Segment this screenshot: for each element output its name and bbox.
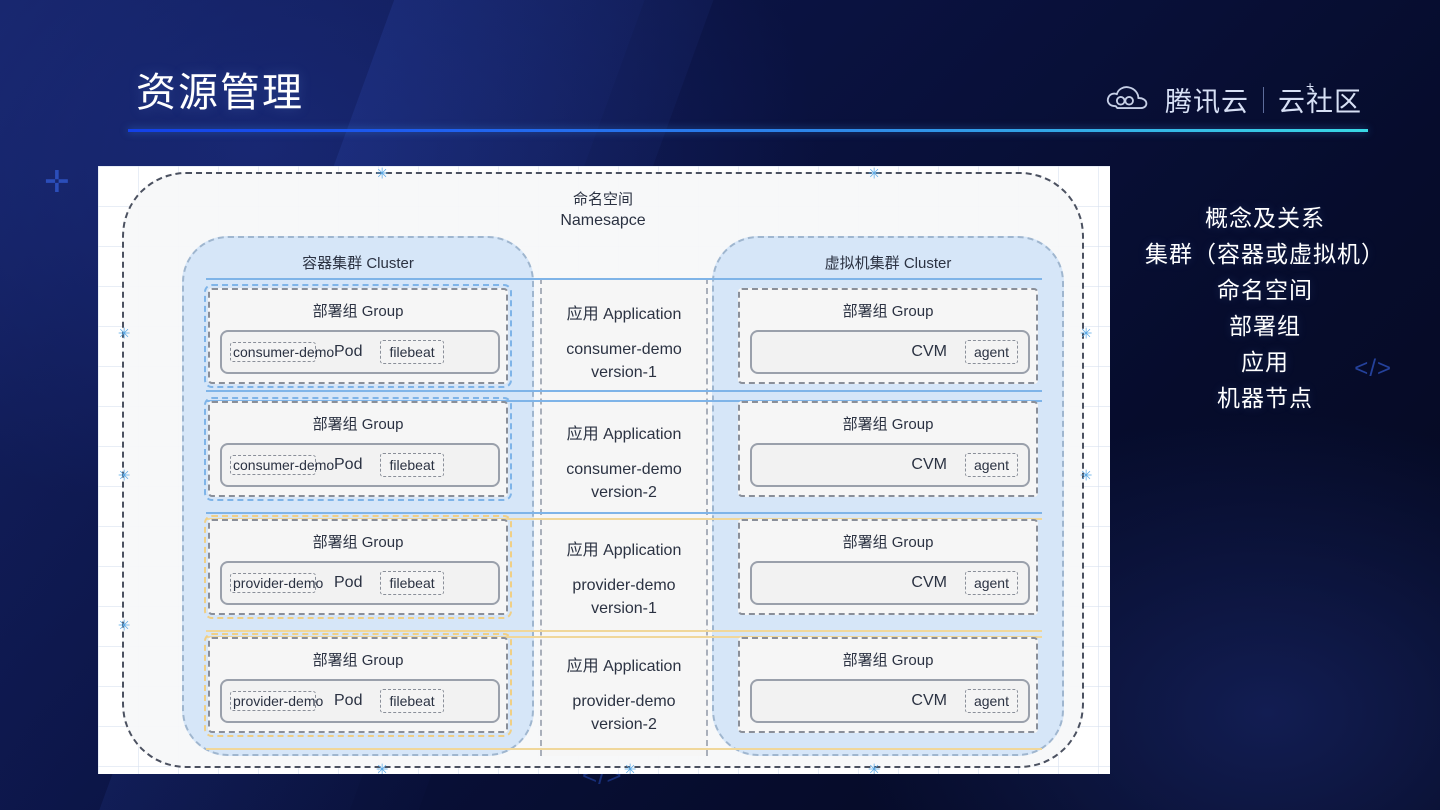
application-cell-2[interactable]: 应用 Application consumer-demo version-2 bbox=[524, 420, 724, 504]
application-cell-1[interactable]: 应用 Application consumer-demo version-1 bbox=[524, 300, 724, 384]
brand-lockup: 腾讯云 云社区 + bbox=[1105, 80, 1362, 119]
brand-divider bbox=[1263, 87, 1264, 113]
namespace-title-cn: 命名空间 bbox=[124, 190, 1082, 210]
cluster-vm-label: 虚拟机集群 Cluster bbox=[714, 252, 1062, 273]
pod-label-3: Pod bbox=[334, 574, 362, 592]
legend-line-cluster: 集群（容器或虚拟机） bbox=[1120, 236, 1410, 272]
brand-subname-text: 云社区 bbox=[1278, 87, 1362, 117]
application-version-4: version-2 bbox=[524, 713, 724, 736]
cvm-node-1[interactable]: CVM agent bbox=[750, 330, 1030, 374]
slide-root: 资源管理 腾讯云 云社区 + ✛ </> </> 命名空间 Namesapce … bbox=[0, 0, 1440, 810]
namespace-anchor-right-upper: ✳ bbox=[1080, 327, 1093, 342]
deployment-group-left-2-title: 部署组 Group bbox=[210, 413, 506, 434]
application-kind-4: 应用 Application bbox=[524, 652, 724, 676]
deployment-group-left-1-title: 部署组 Group bbox=[210, 300, 506, 321]
application-version-3: version-1 bbox=[524, 597, 724, 620]
plus-decoration-icon: ✛ bbox=[44, 170, 70, 196]
deployment-group-right-3-title: 部署组 Group bbox=[740, 531, 1036, 552]
namespace-anchor-top-left: ✳ bbox=[376, 167, 389, 182]
application-kind-3: 应用 Application bbox=[524, 536, 724, 560]
cvm-node-4[interactable]: CVM agent bbox=[750, 679, 1030, 723]
cvm-node-2[interactable]: CVM agent bbox=[750, 443, 1030, 487]
pod-label-1: Pod bbox=[334, 343, 362, 361]
brand-subname: 云社区 + bbox=[1278, 80, 1362, 119]
relation-line-row-1-top bbox=[206, 278, 1042, 280]
pod-label-4: Pod bbox=[334, 692, 362, 710]
pod-node-4[interactable]: provider-demo Pod filebeat bbox=[220, 679, 500, 723]
cvm-agent-chip-4: agent bbox=[965, 689, 1018, 714]
pod-node-1[interactable]: consumer-demo Pod filebeat bbox=[220, 330, 500, 374]
deployment-group-left-4[interactable]: 部署组 Group provider-demo Pod filebeat bbox=[208, 637, 508, 733]
deployment-group-left-2[interactable]: 部署组 Group consumer-demo Pod filebeat bbox=[208, 401, 508, 497]
namespace-container: 命名空间 Namesapce ✳ ✳ ✳ ✳ ✳ ✳ ✳ ✳ ✳ ✳ 容器集群 … bbox=[122, 172, 1084, 768]
deployment-group-right-3[interactable]: 部署组 Group CVM agent bbox=[738, 519, 1038, 615]
cvm-label-4: CVM bbox=[911, 692, 947, 710]
relation-line-row-4-bottom bbox=[206, 748, 1042, 750]
namespace-anchor-left-upper: ✳ bbox=[118, 327, 131, 342]
deployment-group-right-2[interactable]: 部署组 Group CVM agent bbox=[738, 401, 1038, 497]
application-cell-3[interactable]: 应用 Application provider-demo version-1 bbox=[524, 536, 724, 620]
namespace-anchor-top-right: ✳ bbox=[868, 167, 881, 182]
deployment-group-right-1-title: 部署组 Group bbox=[740, 300, 1036, 321]
cluster-container-label: 容器集群 Cluster bbox=[184, 252, 532, 273]
diagram-panel: 命名空间 Namesapce ✳ ✳ ✳ ✳ ✳ ✳ ✳ ✳ ✳ ✳ 容器集群 … bbox=[98, 166, 1110, 774]
application-cell-4[interactable]: 应用 Application provider-demo version-2 bbox=[524, 652, 724, 736]
pod-label-2: Pod bbox=[334, 456, 362, 474]
deployment-group-right-1[interactable]: 部署组 Group CVM agent bbox=[738, 288, 1038, 384]
legend-line-concepts: 概念及关系 bbox=[1120, 200, 1410, 236]
deployment-group-right-4[interactable]: 部署组 Group CVM agent bbox=[738, 637, 1038, 733]
namespace-title-en: Namesapce bbox=[124, 210, 1082, 232]
application-version-2: version-2 bbox=[524, 481, 724, 504]
cvm-agent-chip-1: agent bbox=[965, 340, 1018, 365]
application-kind-2: 应用 Application bbox=[524, 420, 724, 444]
legend-line-node: 机器节点 bbox=[1120, 380, 1410, 416]
pod-app-chip-1: consumer-demo bbox=[230, 342, 316, 363]
pod-sidecar-chip-4: filebeat bbox=[380, 689, 443, 714]
pod-app-chip-2: consumer-demo bbox=[230, 455, 316, 476]
cvm-label-1: CVM bbox=[911, 343, 947, 361]
deployment-group-right-2-title: 部署组 Group bbox=[740, 413, 1036, 434]
tencent-cloud-logo-icon bbox=[1105, 83, 1151, 117]
pod-sidecar-chip-2: filebeat bbox=[380, 453, 443, 478]
cvm-label-3: CVM bbox=[911, 574, 947, 592]
header-divider-rule bbox=[128, 129, 1368, 132]
brand-name: 腾讯云 bbox=[1165, 80, 1249, 119]
namespace-title: 命名空间 Namesapce bbox=[124, 190, 1082, 232]
cvm-agent-chip-2: agent bbox=[965, 453, 1018, 478]
relation-line-row-2-bottom bbox=[206, 512, 1042, 514]
application-name-2: consumer-demo bbox=[524, 458, 724, 481]
pod-node-2[interactable]: consumer-demo Pod filebeat bbox=[220, 443, 500, 487]
deployment-group-right-4-title: 部署组 Group bbox=[740, 649, 1036, 670]
legend-line-app: 应用 bbox=[1120, 344, 1410, 380]
application-name-4: provider-demo bbox=[524, 690, 724, 713]
application-version-1: version-1 bbox=[524, 361, 724, 384]
pod-app-chip-4: provider-demo bbox=[230, 691, 316, 712]
deployment-group-left-3-title: 部署组 Group bbox=[210, 531, 506, 552]
namespace-anchor-left-lower: ✳ bbox=[118, 619, 131, 634]
pod-node-3[interactable]: provider-demo Pod filebeat bbox=[220, 561, 500, 605]
deployment-group-left-1[interactable]: 部署组 Group consumer-demo Pod filebeat bbox=[208, 288, 508, 384]
legend-line-group: 部署组 bbox=[1120, 308, 1410, 344]
relation-line-row-3-bottom bbox=[206, 630, 1042, 632]
concept-legend: 概念及关系 集群（容器或虚拟机） 命名空间 部署组 应用 机器节点 bbox=[1120, 200, 1410, 416]
application-name-1: consumer-demo bbox=[524, 338, 724, 361]
cvm-node-3[interactable]: CVM agent bbox=[750, 561, 1030, 605]
pod-app-chip-3: provider-demo bbox=[230, 573, 316, 594]
namespace-anchor-left-mid: ✳ bbox=[118, 469, 131, 484]
deployment-group-left-4-title: 部署组 Group bbox=[210, 649, 506, 670]
namespace-anchor-bottom-right: ✳ bbox=[868, 763, 881, 775]
application-kind-1: 应用 Application bbox=[524, 300, 724, 324]
pod-sidecar-chip-3: filebeat bbox=[380, 571, 443, 596]
deployment-group-left-3[interactable]: 部署组 Group provider-demo Pod filebeat bbox=[208, 519, 508, 615]
legend-line-namespace: 命名空间 bbox=[1120, 272, 1410, 308]
page-title: 资源管理 bbox=[136, 60, 304, 118]
namespace-anchor-bottom-mid: ✳ bbox=[624, 763, 637, 775]
brand-plus-mark: + bbox=[1306, 78, 1315, 94]
namespace-anchor-bottom-left: ✳ bbox=[376, 763, 389, 775]
application-name-3: provider-demo bbox=[524, 574, 724, 597]
cvm-agent-chip-3: agent bbox=[965, 571, 1018, 596]
relation-line-row-1-bottom bbox=[206, 390, 1042, 392]
cvm-label-2: CVM bbox=[911, 456, 947, 474]
namespace-anchor-right-mid: ✳ bbox=[1080, 469, 1093, 484]
pod-sidecar-chip-1: filebeat bbox=[380, 340, 443, 365]
